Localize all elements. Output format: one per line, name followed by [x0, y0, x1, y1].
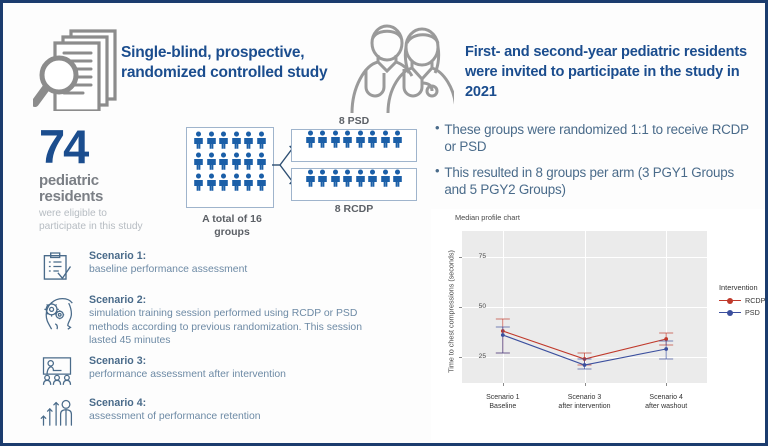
- stat-number: 74: [39, 125, 154, 170]
- two-doctors-icon: [348, 21, 454, 113]
- person-icon: [243, 152, 254, 170]
- chart-legend: Intervention RCDPPSD: [719, 283, 768, 320]
- person-icon: [243, 131, 254, 149]
- person-icon: [355, 130, 366, 148]
- x-axis-tick-label: Scenario 4after washout: [621, 393, 711, 411]
- y-axis-tick-label: 25: [466, 353, 486, 360]
- list-item: •These groups were randomized 1:1 to rec…: [435, 121, 751, 155]
- person-icon: [380, 169, 391, 187]
- bullet-dot: •: [435, 121, 439, 155]
- person-icon: [342, 130, 353, 148]
- person-icon: [392, 130, 403, 148]
- person-icon: [218, 131, 229, 149]
- x-axis-tick-label-line: after intervention: [540, 402, 630, 411]
- bullet-text: These groups were randomized 1:1 to rece…: [444, 121, 751, 155]
- person-icon: [206, 152, 217, 170]
- list-item: Scenario 3: performance assessment after…: [39, 354, 379, 390]
- presentation-teaching-icon: [39, 354, 81, 390]
- people-row: [292, 130, 416, 148]
- document-magnifier-icon: [33, 25, 129, 111]
- growth-arrows-person-icon: [39, 396, 81, 432]
- scenario-title: Scenario 4:: [89, 397, 261, 410]
- y-axis-tick-mark: [459, 307, 462, 308]
- person-icon: [305, 130, 316, 148]
- legend-swatch: [719, 308, 741, 317]
- header-left-title: Single-blind, prospective, randomized co…: [121, 43, 336, 84]
- person-icon: [231, 152, 242, 170]
- person-icon: [330, 130, 341, 148]
- scenario-body: performance assessment after interventio…: [89, 368, 286, 382]
- person-icon: [367, 130, 378, 148]
- median-profile-chart: Median profile chart Time to chest compr…: [431, 209, 765, 441]
- list-item: Scenario 2: simulation training session …: [39, 293, 379, 348]
- scenario-body: simulation training session performed us…: [89, 307, 379, 348]
- data-point: [664, 347, 668, 351]
- person-icon: [231, 173, 242, 191]
- clipboard-checklist-icon: [39, 249, 81, 287]
- person-icon: [193, 131, 204, 149]
- y-axis-tick-mark: [459, 357, 462, 358]
- head-with-gears-icon: [39, 293, 81, 348]
- person-icon: [317, 130, 328, 148]
- y-axis-tick-mark: [459, 257, 462, 258]
- eligible-residents-stat: 74 pediatric residents were eligible to …: [39, 125, 154, 234]
- person-icon: [355, 169, 366, 187]
- psd-group-label: 8 PSD: [291, 115, 417, 127]
- chart-title: Median profile chart: [455, 213, 520, 222]
- x-axis-tick-mark: [585, 383, 586, 386]
- list-item: •This resulted in 8 groups per arm (3 PG…: [435, 164, 751, 198]
- legend-item: PSD: [719, 308, 768, 317]
- x-axis-tick-label-line: Baseline: [458, 402, 548, 411]
- data-point: [501, 333, 505, 337]
- x-axis-tick-mark: [503, 383, 504, 386]
- data-point: [583, 363, 587, 367]
- people-row: [187, 128, 273, 149]
- chart-plot-area: [462, 231, 707, 383]
- list-item: Scenario 4: assessment of performance re…: [39, 396, 379, 432]
- legend-swatch: [719, 296, 741, 305]
- all-groups-caption: A total of 16 groups: [186, 213, 278, 238]
- x-axis-tick-label-line: after washout: [621, 402, 711, 411]
- x-axis-tick-label-line: Scenario 4: [621, 393, 711, 402]
- header-right-title: First- and second-year pediatric residen…: [465, 43, 765, 103]
- error-bar: [496, 327, 510, 353]
- rcdp-group-box: [291, 168, 417, 201]
- stat-label: pediatric residents: [39, 173, 154, 205]
- person-icon: [305, 169, 316, 187]
- scenario-body: assessment of performance retention: [89, 410, 261, 424]
- infographic-poster: Single-blind, prospective, randomized co…: [0, 0, 768, 446]
- person-icon: [367, 169, 378, 187]
- x-axis-tick-label: Scenario 3after intervention: [540, 393, 630, 411]
- y-axis-tick-label: 75: [466, 253, 486, 260]
- people-row: [187, 149, 273, 170]
- x-axis-tick-label: Scenario 1Baseline: [458, 393, 548, 411]
- person-icon: [392, 169, 403, 187]
- bullet-dot: •: [435, 164, 439, 198]
- rcdp-group-label: 8 RCDP: [291, 203, 417, 215]
- scenario-title: Scenario 3:: [89, 355, 286, 368]
- legend-label: PSD: [745, 308, 760, 317]
- person-icon: [317, 169, 328, 187]
- x-axis-tick-label-line: Scenario 3: [540, 393, 630, 402]
- person-icon: [218, 152, 229, 170]
- all-groups-box: [186, 127, 274, 208]
- y-axis-tick-label: 50: [466, 303, 486, 310]
- person-icon: [193, 152, 204, 170]
- people-row: [292, 169, 416, 187]
- person-icon: [256, 152, 267, 170]
- chart-y-axis-label: Time to chest compressions (seconds): [447, 237, 456, 387]
- scenario-body: baseline performance assessment: [89, 263, 247, 277]
- stat-sublabel: were eligible to participate in this stu…: [39, 208, 154, 234]
- person-icon: [330, 169, 341, 187]
- legend-item: RCDP: [719, 296, 768, 305]
- person-icon: [231, 131, 242, 149]
- person-icon: [206, 173, 217, 191]
- x-axis-tick-mark: [666, 383, 667, 386]
- scenario-title: Scenario 2:: [89, 294, 379, 307]
- data-point: [664, 337, 668, 341]
- people-row: [187, 170, 273, 191]
- person-icon: [380, 130, 391, 148]
- person-icon: [342, 169, 353, 187]
- legend-label: RCDP: [745, 296, 765, 305]
- legend-title: Intervention: [719, 283, 768, 292]
- legend-dot: [727, 298, 733, 304]
- person-icon: [256, 131, 267, 149]
- list-item: Scenario 1: baseline performance assessm…: [39, 249, 379, 287]
- person-icon: [256, 173, 267, 191]
- person-icon: [193, 173, 204, 191]
- randomization-bullet-list: •These groups were randomized 1:1 to rec…: [435, 121, 751, 208]
- legend-dot: [727, 310, 733, 316]
- person-icon: [243, 173, 254, 191]
- scenario-list: Scenario 1: baseline performance assessm…: [39, 249, 379, 438]
- scenario-title: Scenario 1:: [89, 250, 247, 263]
- chart-series-overlay: [462, 231, 707, 383]
- bullet-text: This resulted in 8 groups per arm (3 PGY…: [444, 164, 751, 198]
- x-axis-tick-label-line: Scenario 1: [458, 393, 548, 402]
- psd-group-box: [291, 129, 417, 162]
- person-icon: [206, 131, 217, 149]
- person-icon: [218, 173, 229, 191]
